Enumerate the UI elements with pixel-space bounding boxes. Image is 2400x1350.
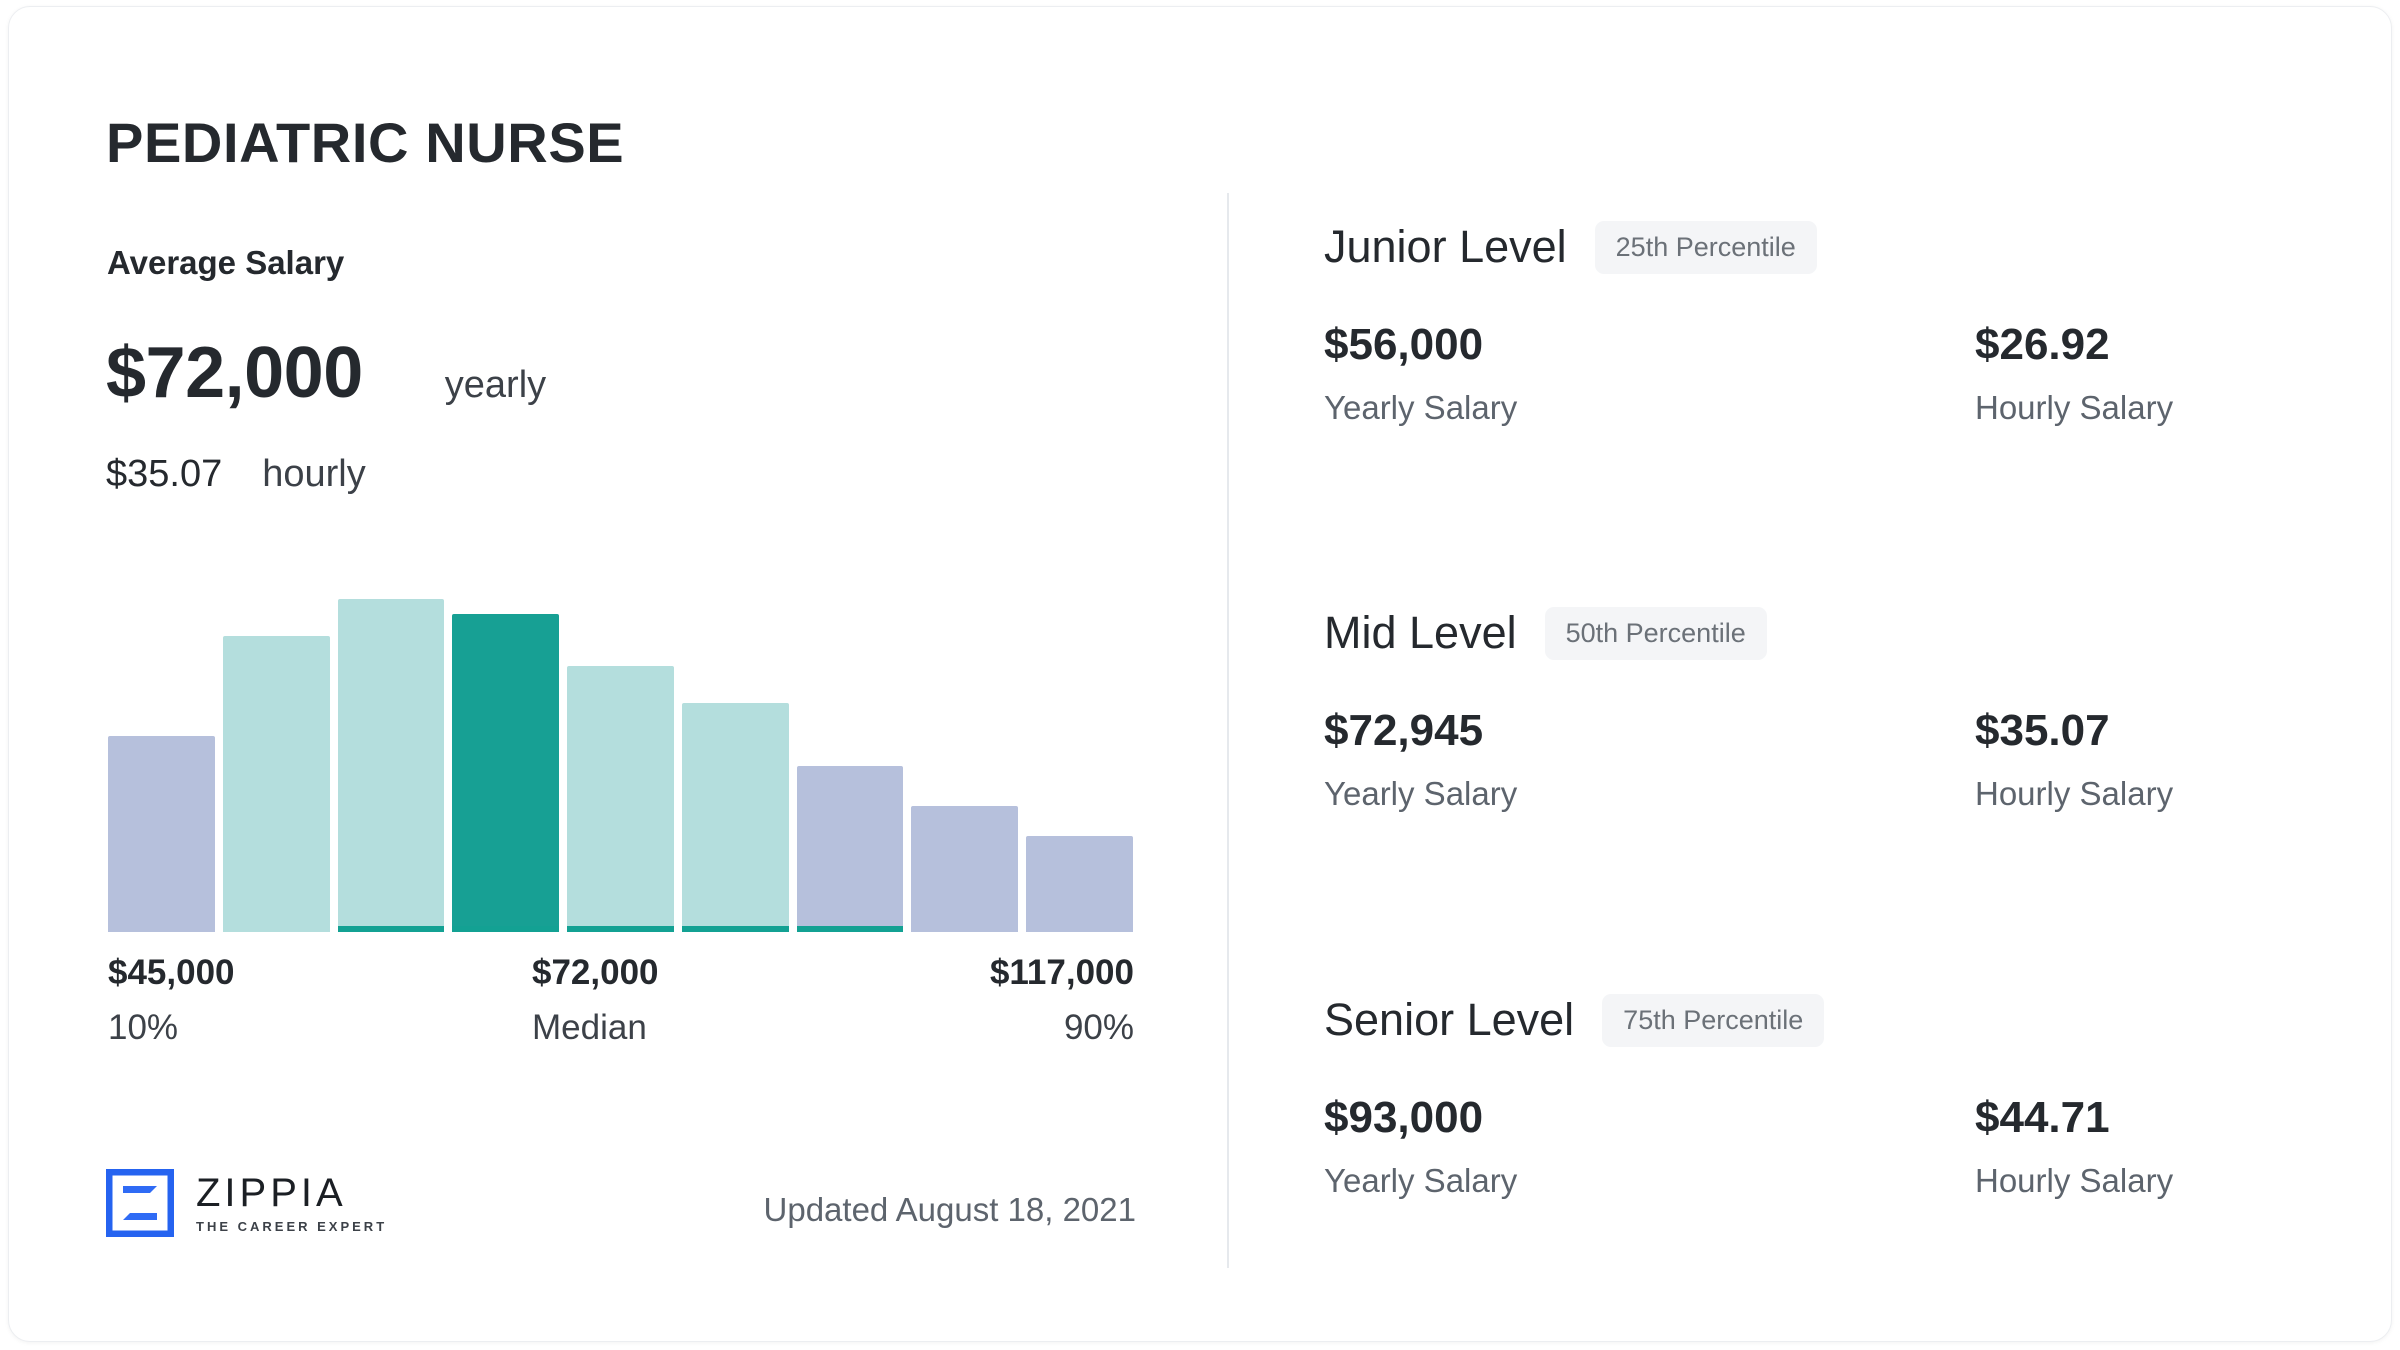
- left-panel: PEDIATRIC NURSE Average Salary $72,000 y…: [9, 7, 1228, 1341]
- chart-bar: [797, 766, 904, 933]
- axis-low-value: $45,000: [108, 955, 235, 990]
- level-section-senior: Senior Level 75th Percentile $93,000 Yea…: [1324, 992, 2324, 1216]
- stat-yearly: $72,945 Yearly Salary: [1324, 709, 1517, 810]
- chart-bar: [223, 636, 330, 932]
- axis-median-sub: Median: [532, 1010, 659, 1045]
- axis-label-high: $117,000 90%: [990, 955, 1134, 1045]
- stat-yearly-label: Yearly Salary: [1324, 391, 1517, 424]
- stat-yearly: $56,000 Yearly Salary: [1324, 323, 1517, 424]
- average-yearly-row: $72,000 yearly: [106, 332, 546, 414]
- chart-bar: [567, 666, 674, 932]
- stat-hourly-value: $35.07: [1975, 709, 2173, 753]
- zippia-logo[interactable]: ZIPPIA THE CAREER EXPERT: [106, 1169, 387, 1237]
- chart-bar-accent: [797, 926, 904, 932]
- stat-hourly-value: $26.92: [1975, 323, 2173, 367]
- zippia-logo-text: ZIPPIA THE CAREER EXPERT: [196, 1173, 387, 1233]
- stat-yearly-label: Yearly Salary: [1324, 1164, 1517, 1197]
- chart-bar: [452, 614, 559, 932]
- chart-bar-accent: [567, 926, 674, 932]
- chart-bar-accent: [452, 926, 559, 932]
- percentile-badge: 75th Percentile: [1602, 994, 1824, 1047]
- stat-hourly: $44.71 Hourly Salary: [1975, 1096, 2173, 1197]
- chart-bar: [338, 599, 445, 932]
- percentile-badge: 50th Percentile: [1545, 607, 1767, 660]
- level-stats: $72,945 Yearly Salary $35.07 Hourly Sala…: [1324, 709, 2324, 829]
- stat-hourly-label: Hourly Salary: [1975, 391, 2173, 424]
- stat-hourly: $26.92 Hourly Salary: [1975, 323, 2173, 424]
- average-yearly-value: $72,000: [106, 332, 363, 414]
- level-header: Senior Level 75th Percentile: [1324, 992, 2324, 1048]
- stat-hourly-value: $44.71: [1975, 1096, 2173, 1140]
- stat-yearly-value: $56,000: [1324, 323, 1517, 367]
- chart-bar: [1026, 836, 1133, 932]
- average-yearly-unit: yearly: [445, 364, 546, 407]
- level-name: Mid Level: [1324, 607, 1517, 659]
- zippia-name: ZIPPIA: [196, 1173, 387, 1213]
- axis-label-low: $45,000 10%: [108, 955, 235, 1045]
- axis-high-sub: 90%: [990, 1010, 1134, 1045]
- level-header: Junior Level 25th Percentile: [1324, 219, 2324, 275]
- average-hourly-unit: hourly: [262, 453, 366, 496]
- stat-hourly-label: Hourly Salary: [1975, 1164, 2173, 1197]
- stat-hourly-label: Hourly Salary: [1975, 777, 2173, 810]
- salary-card: PEDIATRIC NURSE Average Salary $72,000 y…: [8, 6, 2392, 1342]
- level-section-junior: Junior Level 25th Percentile $56,000 Yea…: [1324, 219, 2324, 443]
- chart-bar: [682, 703, 789, 932]
- stat-yearly-label: Yearly Salary: [1324, 777, 1517, 810]
- level-header: Mid Level 50th Percentile: [1324, 605, 2324, 661]
- level-section-mid: Mid Level 50th Percentile $72,945 Yearly…: [1324, 605, 2324, 829]
- stat-yearly-value: $93,000: [1324, 1096, 1517, 1140]
- stat-yearly-value: $72,945: [1324, 709, 1517, 753]
- stat-hourly: $35.07 Hourly Salary: [1975, 709, 2173, 810]
- zippia-tagline: THE CAREER EXPERT: [196, 1220, 387, 1233]
- salary-distribution-chart: [108, 562, 1133, 932]
- level-stats: $56,000 Yearly Salary $26.92 Hourly Sala…: [1324, 323, 2324, 443]
- right-panel: Junior Level 25th Percentile $56,000 Yea…: [1229, 7, 2392, 1341]
- level-name: Senior Level: [1324, 994, 1574, 1046]
- zippia-logo-icon: [106, 1169, 174, 1237]
- axis-median-value: $72,000: [532, 955, 659, 990]
- updated-date: Updated August 18, 2021: [764, 1191, 1136, 1229]
- average-hourly-value: $35.07: [106, 453, 222, 496]
- level-name: Junior Level: [1324, 221, 1567, 273]
- chart-bar-accent: [338, 926, 445, 932]
- chart-bar-accent: [682, 926, 789, 932]
- card-footer: ZIPPIA THE CAREER EXPERT Updated August …: [106, 1167, 1136, 1267]
- level-stats: $93,000 Yearly Salary $44.71 Hourly Sala…: [1324, 1096, 2324, 1216]
- percentile-badge: 25th Percentile: [1595, 221, 1817, 274]
- stat-yearly: $93,000 Yearly Salary: [1324, 1096, 1517, 1197]
- chart-axis-labels: $45,000 10% $72,000 Median $117,000 90%: [108, 955, 1134, 1055]
- chart-bar: [108, 736, 215, 932]
- axis-high-value: $117,000: [990, 955, 1134, 990]
- page-title: PEDIATRIC NURSE: [106, 110, 624, 175]
- chart-bar: [911, 806, 1018, 932]
- average-salary-label: Average Salary: [107, 244, 344, 282]
- axis-low-sub: 10%: [108, 1010, 235, 1045]
- average-hourly-row: $35.07 hourly: [106, 453, 366, 496]
- axis-label-median: $72,000 Median: [532, 955, 659, 1045]
